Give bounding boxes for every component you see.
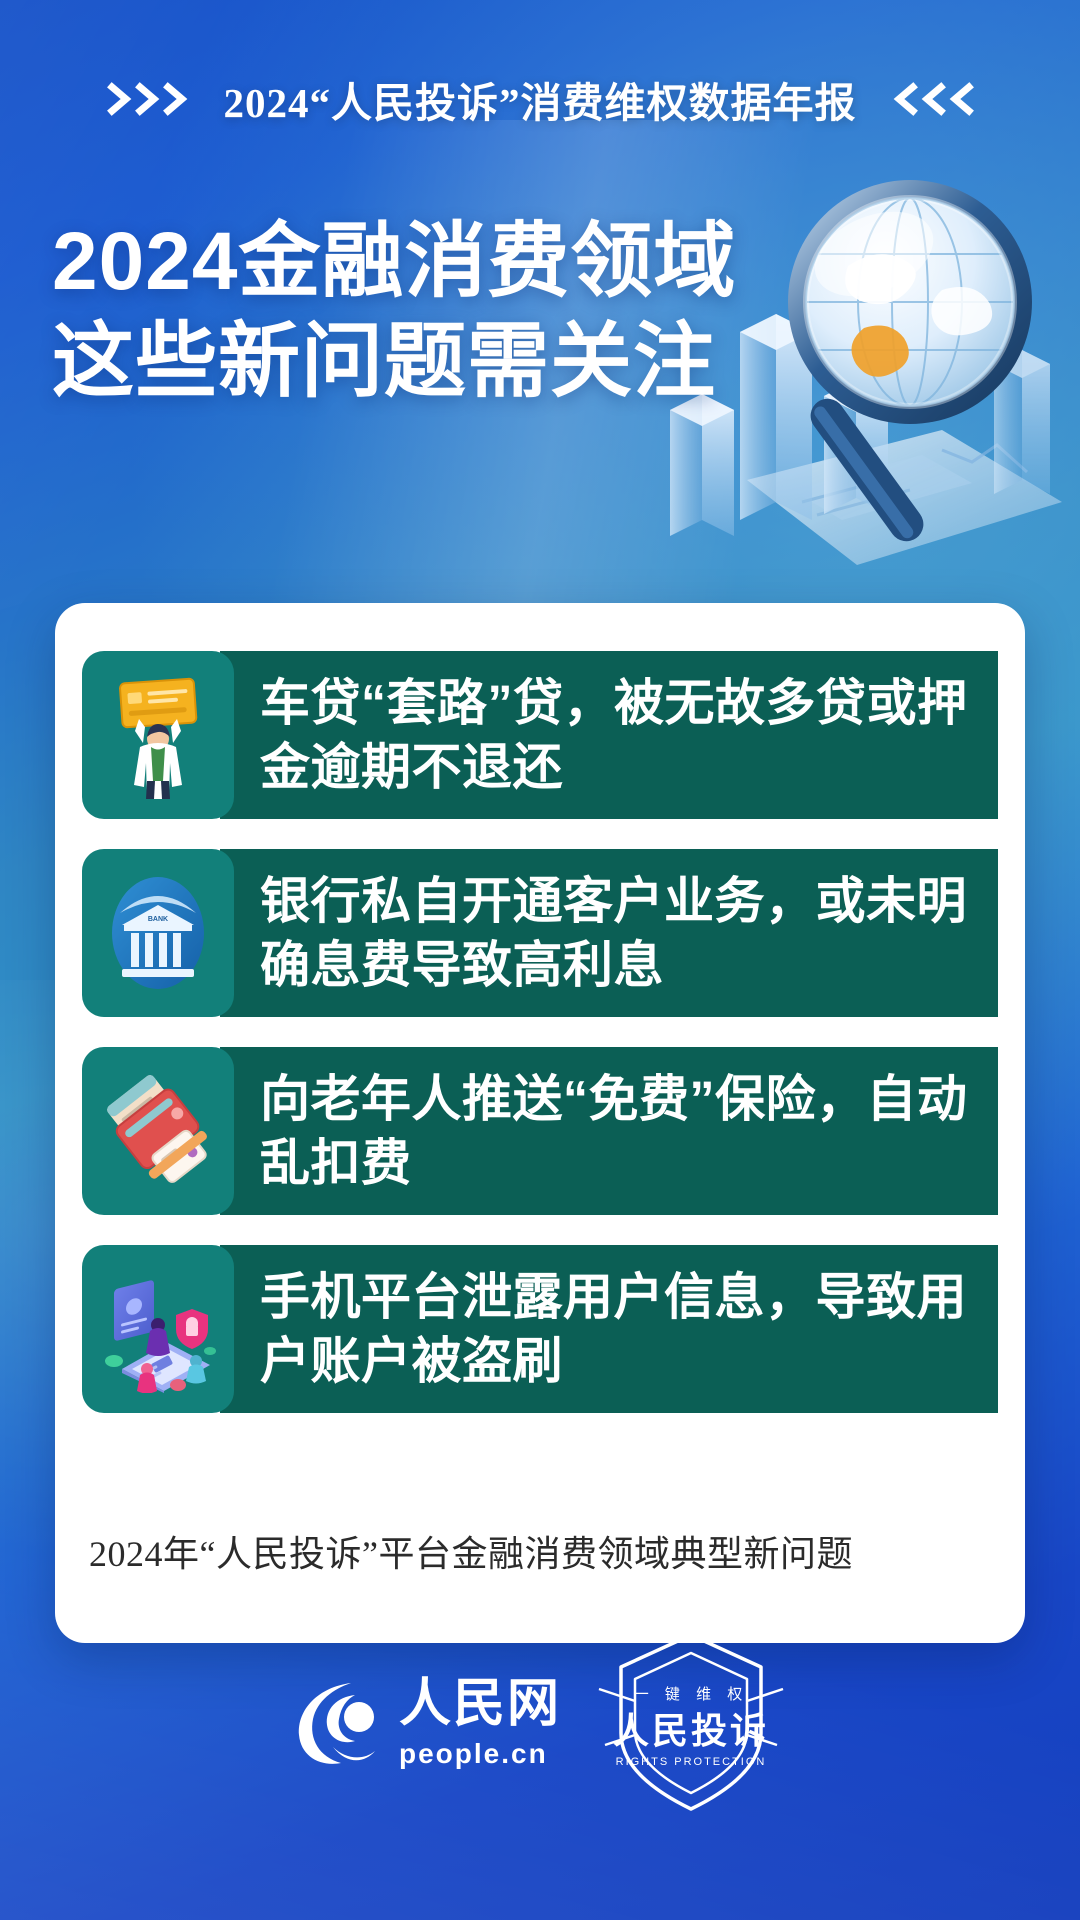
shield-bottom-text: RIGHTS PROTECTION	[616, 1756, 767, 1768]
person-holding-credit-card-icon	[82, 651, 234, 819]
list-item[interactable]: 手机平台泄露用户信息，导致用户账户被盗刷	[82, 1245, 998, 1413]
people-cn-swirl-icon	[289, 1673, 385, 1774]
page-title-line-2: 这些新问题需关注	[52, 312, 712, 412]
list-item[interactable]: 车贷“套路”贷，被无故多贷或押金逾期不退还	[82, 651, 998, 819]
list-item-text-band: 银行私自开通客户业务，或未明确息费导致高利息	[220, 849, 998, 1017]
mobile-platform-data-leak-icon	[82, 1245, 234, 1413]
page-title: 2024金融消费领域 这些新问题需关注	[52, 212, 712, 412]
shield-main-text: 人民投诉	[613, 1710, 769, 1751]
list-item-label: 向老年人推送“免费”保险，自动乱扣费	[260, 1067, 992, 1195]
people-cn-wordmark: 人民网 people.cn	[399, 1679, 561, 1768]
content-card: 车贷“套路”贷，被无故多贷或押金逾期不退还	[55, 603, 1025, 1643]
wallet-with-cards-icon	[82, 1047, 234, 1215]
list-item[interactable]: BANK 银行私自开通客户业务，或未明确息费导致高利息	[82, 849, 998, 1017]
people-cn-name: 人民网	[399, 1679, 561, 1731]
list-item-label: 车贷“套路”贷，被无故多贷或押金逾期不退还	[260, 671, 992, 799]
shield-badge-icon[interactable]: 一 键 维 权 人民投诉 RIGHTS PROTECTION	[591, 1623, 791, 1824]
list-item-label: 银行私自开通客户业务，或未明确息费导致高利息	[260, 869, 992, 997]
chevron-right-triple-icon	[106, 82, 202, 116]
page-title-line-1: 2024金融消费领域	[52, 212, 712, 312]
people-cn-logo[interactable]: 人民网 people.cn	[289, 1673, 561, 1774]
list-item[interactable]: 向老年人推送“免费”保险，自动乱扣费	[82, 1047, 998, 1215]
footer-logos: 人民网 people.cn 一 键 维 权 人民投诉 RIGHTS PROTEC…	[0, 1623, 1080, 1824]
list-item-text-band: 向老年人推送“免费”保险，自动乱扣费	[220, 1047, 998, 1215]
list-item-text-band: 手机平台泄露用户信息，导致用户账户被盗刷	[220, 1245, 998, 1413]
chevron-left-triple-icon	[879, 82, 975, 116]
header-bar: 2024“人民投诉”消费维权数据年报	[0, 62, 1080, 136]
list-item-label: 手机平台泄露用户信息，导致用户账户被盗刷	[260, 1265, 992, 1393]
header-title: 2024“人民投诉”消费维权数据年报	[224, 69, 857, 129]
card-caption: 2024年“人民投诉”平台金融消费领域典型新问题	[89, 1525, 991, 1577]
poster-root: 2024“人民投诉”消费维权数据年报	[0, 0, 1080, 1920]
shield-top-text: 一 键 维 权	[634, 1686, 749, 1703]
bank-building-circle-icon: BANK	[82, 849, 234, 1017]
list-item-text-band: 车贷“套路”贷，被无故多贷或押金逾期不退还	[220, 651, 998, 819]
people-cn-domain: people.cn	[399, 1740, 548, 1768]
svg-text:BANK: BANK	[148, 916, 168, 923]
issue-list: 车贷“套路”贷，被无故多贷或押金逾期不退还	[82, 651, 998, 1413]
